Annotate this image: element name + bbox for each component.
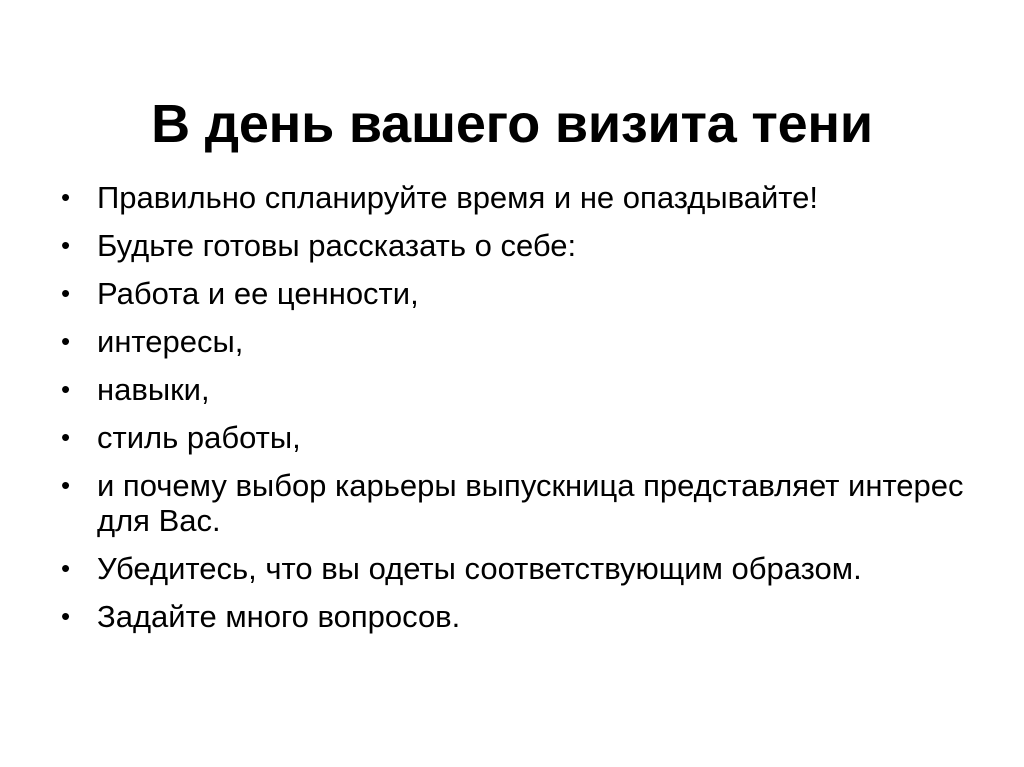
list-item: • Работа и ее ценности, xyxy=(55,276,985,311)
bullet-point-icon: • xyxy=(61,468,81,503)
list-item: • Убедитесь, что вы одеты соответствующи… xyxy=(55,551,985,586)
bullet-point-icon: • xyxy=(61,228,81,263)
list-item-text: интересы, xyxy=(97,324,985,359)
bullet-point-icon: • xyxy=(61,599,81,634)
bullet-point-icon: • xyxy=(61,551,81,586)
bullet-point-icon: • xyxy=(61,372,81,407)
list-item-text: Работа и ее ценности, xyxy=(97,276,985,311)
list-item: • интересы, xyxy=(55,324,985,359)
list-item-text: Задайте много вопросов. xyxy=(97,599,985,634)
bullet-point-icon: • xyxy=(61,324,81,359)
list-item: • и почему выбор карьеры выпускница пред… xyxy=(55,468,985,538)
bullet-point-icon: • xyxy=(61,420,81,455)
list-item-text: Правильно спланируйте время и не опаздыв… xyxy=(97,180,985,215)
list-item-text: Будьте готовы рассказать о себе: xyxy=(97,228,985,263)
list-item: • Задайте много вопросов. xyxy=(55,599,985,634)
list-item-text: стиль работы, xyxy=(97,420,985,455)
list-item-text: навыки, xyxy=(97,372,985,407)
bullet-point-icon: • xyxy=(61,276,81,311)
list-item: • Будьте готовы рассказать о себе: xyxy=(55,228,985,263)
bullet-point-icon: • xyxy=(61,180,81,215)
list-item: • стиль работы, xyxy=(55,420,985,455)
list-item-text: и почему выбор карьеры выпускница предст… xyxy=(97,468,985,538)
bullet-list: • Правильно спланируйте время и не опазд… xyxy=(55,180,985,634)
list-item: • навыки, xyxy=(55,372,985,407)
page-title: В день вашего визита тени xyxy=(0,94,1024,154)
list-item: • Правильно спланируйте время и не опазд… xyxy=(55,180,985,215)
list-item-text: Убедитесь, что вы одеты соответствующим … xyxy=(97,551,985,586)
slide-canvas: В день вашего визита тени • Правильно сп… xyxy=(0,0,1024,767)
